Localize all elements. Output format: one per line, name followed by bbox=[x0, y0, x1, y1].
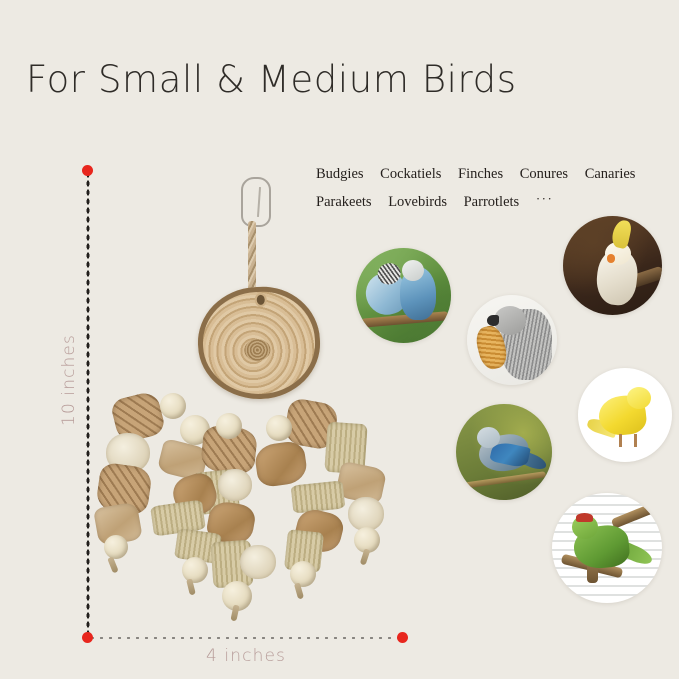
chew-piece-bead bbox=[266, 415, 292, 441]
chew-piece-sola bbox=[240, 545, 276, 579]
bird-photo-tanager bbox=[456, 404, 552, 500]
chew-piece-bead bbox=[104, 535, 128, 559]
wood-grain-core bbox=[244, 338, 271, 361]
chew-piece-sola bbox=[348, 497, 384, 531]
dimension-corner-marker bbox=[82, 632, 93, 643]
amazon-photo-background bbox=[552, 493, 662, 603]
wood-slice-disc bbox=[195, 284, 323, 402]
species-finches: Finches bbox=[458, 161, 503, 188]
amazon-red-forehead bbox=[576, 513, 593, 522]
budgie-right bbox=[400, 267, 436, 320]
bird-photo-budgies bbox=[356, 248, 451, 343]
height-dimension-label: 10 inches bbox=[59, 310, 79, 450]
chew-piece-bead bbox=[160, 393, 186, 419]
width-dimension-label: 4 inches bbox=[88, 646, 404, 666]
product-infographic: For Small & Medium Birds Budgies Cockati… bbox=[0, 0, 679, 679]
budgies-photo-background bbox=[356, 248, 451, 343]
african-grey-photo-background bbox=[467, 295, 557, 385]
cockatiel-crest bbox=[610, 219, 632, 250]
rope-tassel bbox=[107, 556, 119, 573]
wood-perch bbox=[611, 503, 656, 529]
tanager-photo-background bbox=[456, 404, 552, 500]
chew-piece-bead bbox=[182, 557, 208, 583]
cockatiel-photo-background bbox=[563, 216, 662, 315]
canary-leg bbox=[634, 434, 636, 447]
chew-piece-bamboo bbox=[291, 480, 346, 513]
rope-hole bbox=[256, 294, 265, 304]
page-title: For Small & Medium Birds bbox=[26, 58, 517, 101]
perch-branch bbox=[462, 471, 546, 488]
metal-clip-hook-icon bbox=[241, 177, 271, 227]
bird-photo-canary bbox=[578, 368, 672, 462]
bird-photo-cockatiel bbox=[563, 216, 662, 315]
chew-piece-sola bbox=[218, 469, 252, 501]
species-parrotlets: Parrotlets bbox=[464, 189, 520, 216]
chew-piece-nutblock bbox=[253, 440, 308, 489]
canary-head bbox=[627, 387, 651, 410]
bird-photo-amazon-parrot bbox=[552, 493, 662, 603]
chew-piece-bead bbox=[290, 561, 316, 587]
bird-chew-toy-product-image bbox=[90, 175, 402, 625]
canary-photo-background bbox=[578, 368, 672, 462]
species-more-ellipsis: ··· bbox=[536, 185, 554, 212]
width-guide-line bbox=[88, 636, 404, 640]
canary-leg bbox=[619, 434, 621, 447]
cockatiel-cheek-patch bbox=[607, 254, 616, 263]
species-conures: Conures bbox=[520, 161, 568, 188]
width-endpoint-right-marker bbox=[397, 632, 408, 643]
chew-piece-bead bbox=[216, 413, 242, 439]
species-canaries: Canaries bbox=[585, 161, 636, 188]
hanging-rope bbox=[248, 221, 256, 293]
african-grey-beak bbox=[487, 315, 500, 326]
bird-photo-african-grey bbox=[467, 295, 557, 385]
